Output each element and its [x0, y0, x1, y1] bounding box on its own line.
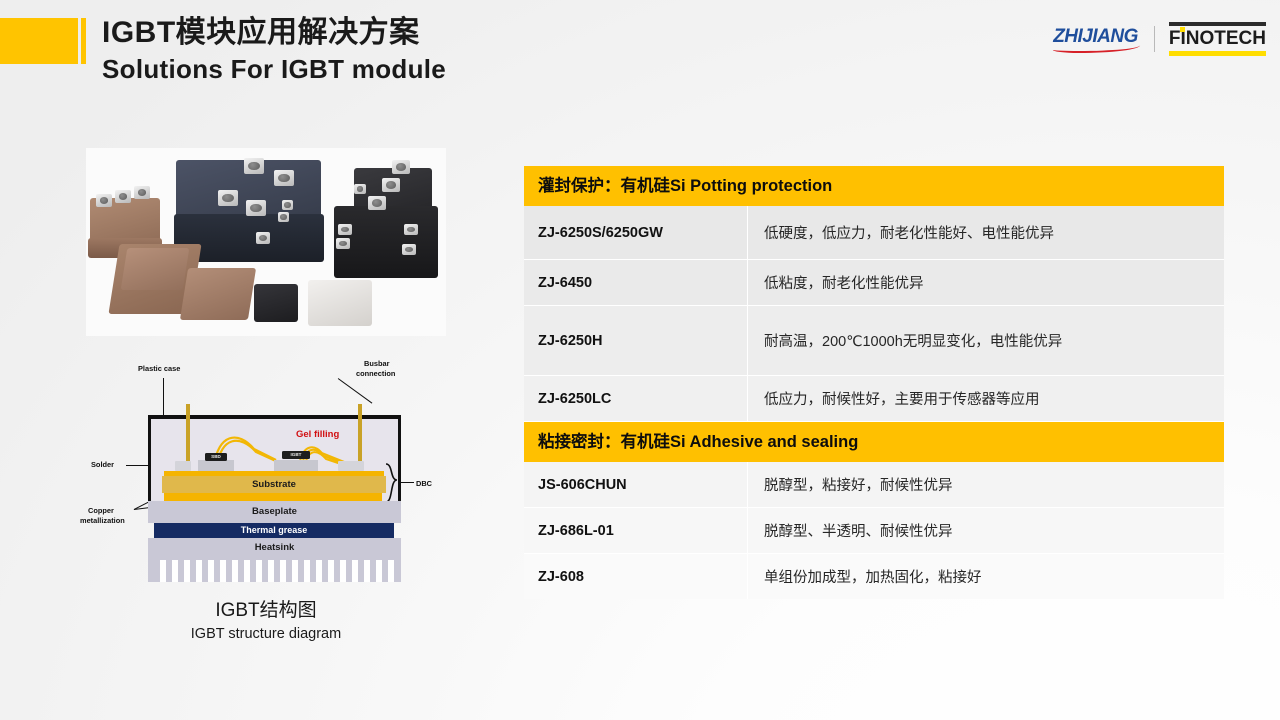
diagram-layer-heatsink-label: Heatsink	[148, 542, 401, 553]
module-terminal	[402, 244, 416, 255]
header-accent-block	[0, 18, 78, 64]
table-cell-product: ZJ-6450	[524, 260, 748, 305]
diagram-solder-pad-right	[338, 461, 364, 471]
products-table: 灌封保护：有机硅Si Potting protection ZJ-6250S/6…	[524, 166, 1224, 599]
table-row[interactable]: ZJ-6250H 耐高温，200℃1000h无明显变化，电性能优异	[524, 306, 1224, 376]
diagram-label-plastic-case: Plastic case	[138, 364, 180, 373]
diagram-chip-igbt: IGBT	[282, 451, 310, 459]
module-terminal	[134, 186, 150, 199]
table-section-header-adhesive: 粘接密封：有机硅Si Adhesive and sealing	[524, 422, 1224, 462]
diagram-caption-cn: IGBT结构图	[86, 598, 446, 624]
table-cell-description: 低应力，耐候性好，主要用于传感器等应用	[748, 376, 1224, 421]
module-terminal	[278, 212, 289, 222]
module-white-right	[308, 280, 372, 326]
diagram-busbar-pin-right	[358, 404, 362, 466]
leader-line-plastic-case	[163, 378, 164, 416]
diagram-layer-thermal-grease-label: Thermal grease	[154, 525, 394, 535]
table-cell-description: 耐高温，200℃1000h无明显变化，电性能优异	[748, 306, 1224, 375]
table-cell-description: 单组份加成型，加热固化，粘接好	[748, 554, 1224, 599]
table-cell-description: 脱醇型，粘接好，耐候性优异	[748, 462, 1224, 507]
diagram-heatsink-fin-gaps	[154, 560, 395, 582]
table-row[interactable]: ZJ-6450 低粘度，耐老化性能优异	[524, 260, 1224, 306]
module-terminal	[354, 184, 366, 194]
zhijiang-logo: ZHIJIANG	[1051, 27, 1140, 52]
module-terminal	[368, 196, 386, 210]
diagram-layer-heatsink: Heatsink	[148, 538, 401, 560]
diagram-label-busbar-line1: Busbar	[364, 359, 389, 368]
table-row[interactable]: ZJ-608 单组份加成型，加热固化，粘接好	[524, 554, 1224, 599]
module-terminal	[256, 232, 270, 244]
table-cell-product: JS-606CHUN	[524, 462, 748, 507]
module-black-small	[254, 284, 298, 322]
diagram-layer-copper-bottom	[164, 493, 382, 501]
igbt-module-photo	[86, 148, 446, 336]
table-cell-description: 低粘度，耐老化性能优异	[748, 260, 1224, 305]
diagram-label-copper-line2: metallization	[80, 516, 125, 525]
table-section-header-potting: 灌封保护：有机硅Si Potting protection	[524, 166, 1224, 206]
table-cell-product: ZJ-6250LC	[524, 376, 748, 421]
module-terminal	[218, 190, 238, 206]
module-terminal	[115, 190, 131, 203]
header-accent-bar	[81, 18, 86, 64]
module-terminal	[246, 200, 266, 216]
finotech-dot-icon	[1180, 27, 1185, 32]
module-terminal	[392, 160, 410, 174]
leader-line-busbar	[338, 378, 373, 404]
diagram-caption-en: IGBT structure diagram	[86, 624, 446, 644]
diagram-layer-thermal-grease: Thermal grease	[154, 523, 394, 538]
diagram-layer-substrate-label: Substrate	[162, 479, 386, 490]
module-terminal	[404, 224, 418, 235]
finotech-bottom-bar-icon	[1169, 51, 1266, 56]
igbt-structure-diagram: Plastic case Busbar connection Solder Co…	[86, 348, 446, 594]
diagram-die-igbt	[274, 460, 318, 471]
diagram-label-gel-filling: Gel filling	[296, 429, 339, 440]
module-terminal	[336, 238, 350, 249]
finotech-logo: FINOTECH	[1169, 22, 1266, 56]
slide-root: IGBT模块应用解决方案 Solutions For IGBT module Z…	[0, 0, 1280, 720]
finotech-top-bar-icon	[1169, 22, 1266, 26]
finotech-wordmark: FINOTECH	[1169, 28, 1266, 49]
diagram-solder-pad-left	[175, 461, 191, 471]
diagram-layer-baseplate: Baseplate	[148, 501, 401, 523]
diagram-caption: IGBT结构图 IGBT structure diagram	[86, 598, 446, 644]
diagram-label-solder: Solder	[91, 460, 114, 469]
diagram-layer-baseplate-label: Baseplate	[148, 506, 401, 517]
module-terminal	[274, 170, 294, 186]
diagram-chip-sbd: SBD	[205, 453, 227, 461]
module-terminal	[244, 158, 264, 174]
page-title-cn: IGBT模块应用解决方案	[102, 14, 446, 52]
page-title: IGBT模块应用解决方案 Solutions For IGBT module	[102, 14, 446, 86]
diagram-die-sbd	[198, 460, 234, 471]
module-terminal	[96, 194, 112, 207]
logo-group: ZHIJIANG FINOTECH	[1051, 22, 1266, 56]
table-row[interactable]: JS-606CHUN 脱醇型，粘接好，耐候性优异	[524, 462, 1224, 508]
table-row[interactable]: ZJ-6250LC 低应力，耐候性好，主要用于传感器等应用	[524, 376, 1224, 422]
diagram-label-busbar-line2: connection	[356, 369, 395, 378]
table-row[interactable]: ZJ-6250S/6250GW 低硬度，低应力，耐老化性能好、电性能优异	[524, 206, 1224, 260]
diagram-label-copper-line1: Copper	[88, 506, 114, 515]
table-cell-product: ZJ-6250H	[524, 306, 748, 375]
page-title-en: Solutions For IGBT module	[102, 52, 446, 86]
module-terminal	[338, 224, 352, 235]
table-cell-description: 脱醇型、半透明、耐候性优异	[748, 508, 1224, 553]
logo-divider	[1154, 26, 1155, 52]
zhijiang-swoosh-icon	[1053, 42, 1141, 53]
module-terminal	[382, 178, 400, 192]
table-cell-description: 低硬度，低应力，耐老化性能好、电性能优异	[748, 206, 1224, 259]
diagram-layer-substrate: Substrate	[162, 476, 386, 493]
module-brown-flat-2	[180, 268, 256, 320]
table-cell-product: ZJ-686L-01	[524, 508, 748, 553]
table-row[interactable]: ZJ-686L-01 脱醇型、半透明、耐候性优异	[524, 508, 1224, 554]
diagram-busbar-pin-left	[186, 404, 190, 466]
table-cell-product: ZJ-608	[524, 554, 748, 599]
table-cell-product: ZJ-6250S/6250GW	[524, 206, 748, 259]
module-terminal	[282, 200, 293, 210]
module-brown-flat-1-lid	[121, 248, 190, 290]
